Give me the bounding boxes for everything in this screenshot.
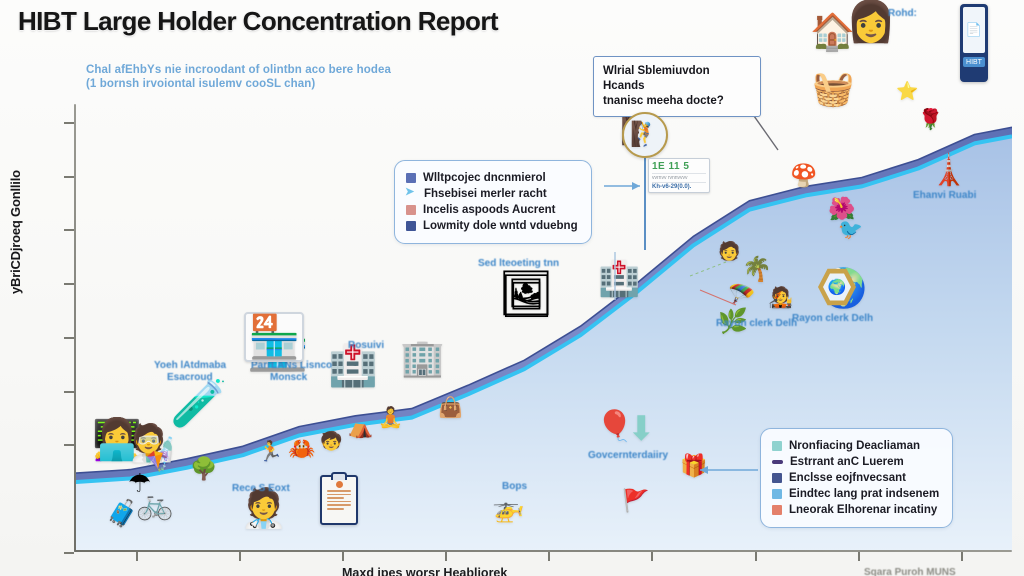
parachute-icon-node[interactable]: 🪂 [728,284,755,306]
callout-line-2: tnanisc meeha docte? [603,94,751,109]
scientist-icon-node[interactable]: 🧑‍⚕️ [240,490,287,528]
washer-icon: 🧺 [812,72,854,106]
legend-item-label: Lowmity dole wntd vduebng [423,218,578,234]
youth-market-label2: Esacroud [167,372,213,383]
monk-icon-node[interactable]: 🧘 [378,408,403,428]
runner-icon-node[interactable]: 🏃 [258,442,283,462]
y-axis-line [74,104,76,552]
y-axis-tick [64,283,74,285]
office-building-icon-node[interactable]: 🏢 [400,340,445,376]
shrub-icon-node[interactable]: 🌳 [190,458,217,480]
gift-icon: 🎁 [680,455,707,477]
person-circle-icon: 🧑‍🎤 [768,288,793,308]
avatar-badge-node[interactable]: 🧗 [622,112,668,158]
legend-swatch-arrow-icon [406,189,417,199]
helicopter-icon: 🚁 [492,495,524,521]
x-axis-tick [548,552,550,561]
legend-item[interactable]: Fhsebisei merler racht [406,186,578,202]
washer-icon-node[interactable]: 🧺 [812,72,854,106]
subtitle-line-2: (1 bornsh irvoiontal isulemv cooSL chan) [86,77,466,91]
legend-item[interactable]: Lneorak Elhorenar incatiny [772,502,939,518]
legend-item-label: Incelis aspoods Aucrent [423,202,556,218]
kite-icon-node[interactable]: 🪁 [146,452,171,472]
globe-icon: 🌍 [823,273,851,301]
chemistry-lab-icon-node[interactable]: 🧪 [170,380,227,426]
storefront-card[interactable]: 🏪 [244,312,304,362]
mini-card-value: 1E 11 5 [652,161,706,172]
resort-label: Rosuivi [348,340,384,351]
gift-icon-node[interactable]: 🎁 [680,455,707,477]
legend-item-label: Enclsse eojfnvecsant [789,470,906,486]
monk-icon: 🧘 [378,408,403,428]
phone-screen-icon: 📄 [963,7,985,53]
bird-icon-node[interactable]: 🐦 [838,220,863,240]
legend-item-label: Fhsebisei merler racht [424,186,547,202]
red-flower-icon: 🌺 [828,198,855,220]
y-axis-tick [64,444,74,446]
red-flower-icon-node[interactable]: 🌺 [828,198,855,220]
tower-icon-node[interactable]: 🗼 [930,156,967,186]
y-axis-tick [64,229,74,231]
legend-item[interactable]: Nronfiacing Deacliaman [772,438,939,454]
y-axis-tick [64,337,74,339]
clipboard-text-line [327,490,351,492]
legend-item-label: Nronfiacing Deacliaman [789,438,920,454]
x-axis-tick [445,552,447,561]
legend-item[interactable]: Lowmity dole wntd vduebng [406,218,578,234]
helicopter-icon-node[interactable]: 🚁 [492,495,524,521]
umbrella-icon-node[interactable]: ☂ [128,470,151,496]
umbrella-icon: ☂ [128,470,151,496]
chart-corner-note: Sqara Puroh MUNS [864,567,956,576]
page-subtitle: Chal afEhbYs nie incroodant of olintbn a… [86,63,466,91]
legend-swatch-square-icon [772,473,782,483]
clipboard-text-line [327,501,351,503]
hospital-icon: 🏥 [328,346,378,386]
question-callout-box[interactable]: Wlrial Sblemiuvdon Hcands tnanisc meeha … [593,56,761,117]
subtitle-line-1: Chal afEhbYs nie incroodant of olintbn a… [86,63,466,77]
person-circle-icon-node[interactable]: 🧑‍🎤 [768,288,793,308]
legend-swatch-square-icon [406,221,416,231]
avatar-badge-ring: 🧗 [622,112,668,158]
page-title: HIBT Large Holder Concentration Report [18,6,498,37]
legend-upper[interactable]: Wlltpcojec dncnmierolFhsebisei merler ra… [394,160,592,244]
mini-card-footer: Kh-v6-29(0.0). [652,182,706,190]
hex-badge-frame: 🌍 [818,268,856,306]
tent-icon: ⛺ [348,418,373,438]
hospital-icon-node[interactable]: 🏥 [328,346,378,386]
tree-palm-icon-node[interactable]: 🌴 [742,258,772,282]
clipboard-text-line [327,504,351,506]
crab-icon-node[interactable]: 🦀 [288,438,315,460]
x-axis-tick [961,552,963,561]
legend-item-label: Wlltpcojec dncnmierol [423,170,546,186]
y-axis-title: yBriCDjroeq Gonllilo [8,94,23,294]
legend-item-label: Estrrant anC Luerem [790,454,904,470]
legend-lower[interactable]: Nronfiacing DeacliamanEstrrant anC Luere… [760,428,953,528]
react-exit-label: Rece S Eoxt [232,483,290,494]
bops-label: Bops [502,481,527,492]
legend-swatch-square-icon [406,173,416,183]
hospital-sign-icon: 🏥 [598,262,640,296]
tent-icon-node[interactable]: ⛺ [348,418,373,438]
picture-frame-node[interactable]: 🖼 [498,272,554,316]
retail-label2: Monsck [270,372,307,383]
legend-item-label: Lneorak Elhorenar incatiny [789,502,937,518]
flag-icon-node[interactable]: 🚩 [622,490,649,512]
clipboard-document-icon[interactable] [320,475,358,525]
y-axis-tick [64,176,74,178]
legend-item-label: Eindtec lang prat indsenem [789,486,939,502]
head-icon-node[interactable]: 🧒 [320,432,342,450]
crab-icon: 🦀 [288,438,315,460]
clipboard-text-line [327,494,351,496]
legend-swatch-square-icon [772,441,782,451]
x-axis-tick [239,552,241,561]
shrub-icon: 🌳 [190,458,217,480]
clipboard-text-line [327,497,344,499]
legend-item[interactable]: Eindtec lang prat indsenem [772,486,939,502]
face-small-icon: 🧑 [718,242,740,260]
picture-frame-icon: 🖼 [498,272,554,316]
bag-icon: 👜 [438,398,463,418]
clipboard-text-line [327,508,344,510]
legend-item[interactable]: Estrrant anC Luerem [772,454,939,470]
y-axis-tick [64,552,74,554]
bag-icon-node[interactable]: 👜 [438,398,463,418]
storefront-icon: 🏪 [248,316,300,358]
face-small-icon-node[interactable]: 🧑 [718,242,740,260]
x-axis-tick [755,552,757,561]
runner-icon: 🏃 [258,442,283,462]
rose-icon-node[interactable]: 🌹 [918,110,943,130]
x-axis-title: Maxd ipes worsr Heabliorek [342,566,507,576]
scientist-icon: 🧑‍⚕️ [240,490,287,528]
down-arrow-icon: ⬇ [627,412,656,446]
youth-market-label1: Yoeh lAtdmaba [154,360,226,371]
rose-icon: 🌹 [918,110,943,130]
flag-icon: 🚩 [622,490,649,512]
clipboard-seal-icon [336,481,343,488]
mini-card-sub: vvrnvv rvnnvvvv [652,173,706,181]
tower-icon: 🗼 [930,156,967,186]
legend-item[interactable]: Wlltpcojec dncnmierol [406,170,578,186]
x-axis-tick [136,552,138,561]
head-icon: 🧒 [320,432,342,450]
legend-swatch-square-icon [772,489,782,499]
y-axis-tick [64,391,74,393]
government-label: Govcernterdaiiry [588,450,668,461]
hospital-sign-icon-node[interactable]: 🏥 [598,262,640,296]
x-axis-tick [858,552,860,561]
legend-swatch-square-icon [406,205,416,215]
phone-chip-label: HIBT [963,57,985,67]
x-axis-tick [342,552,344,561]
mushroom-icon: 🍄 [790,165,817,187]
region-chart-label: Rayon clerk Delh [792,313,873,324]
mini-data-card[interactable]: 1E 11 5 vvrnvv rvnnvvvv Kh-v6-29(0.0). [648,158,710,193]
right-phone-panel[interactable]: 📄 HIBT [960,4,988,82]
suitcase-icon: 🧳 [106,500,138,526]
y-axis-tick [64,122,74,124]
legend-item[interactable]: Enclsse eojfnvecsant [772,470,939,486]
office-building-icon: 🏢 [400,340,445,376]
shared-value-label: Ehanvi Ruabi [913,190,976,201]
climber-icon: 🧗 [630,123,660,147]
legend-item[interactable]: Incelis aspoods Aucrent [406,202,578,218]
bird-icon: 🐦 [838,220,863,240]
seed-reading-label: Sed lteoeting tnn [478,258,559,269]
x-axis-line [74,550,1012,552]
chemistry-lab-icon: 🧪 [170,380,227,426]
legend-swatch-dash-icon [772,460,783,464]
star-icon-node[interactable]: ⭐ [896,82,918,100]
globe-hex-node[interactable]: 🌍 [818,268,856,306]
legend-swatch-square-icon [772,505,782,515]
callout-line-1: Wlrial Sblemiuvdon Hcands [603,64,751,94]
report-canvas: HIBT Large Holder Concentration Report C… [0,0,1024,576]
x-axis-tick [651,552,653,561]
mushroom-icon-node[interactable]: 🍄 [790,165,817,187]
star-icon: ⭐ [896,82,918,100]
rayon-dash-label: Rayon clerk Delh [716,318,797,329]
tree-palm-icon: 🌴 [742,258,772,282]
parachute-icon: 🪂 [728,284,755,306]
road-label: Rohd: [888,8,917,19]
kite-icon: 🪁 [146,452,171,472]
suitcase-icon-node[interactable]: 🧳 [106,500,138,526]
